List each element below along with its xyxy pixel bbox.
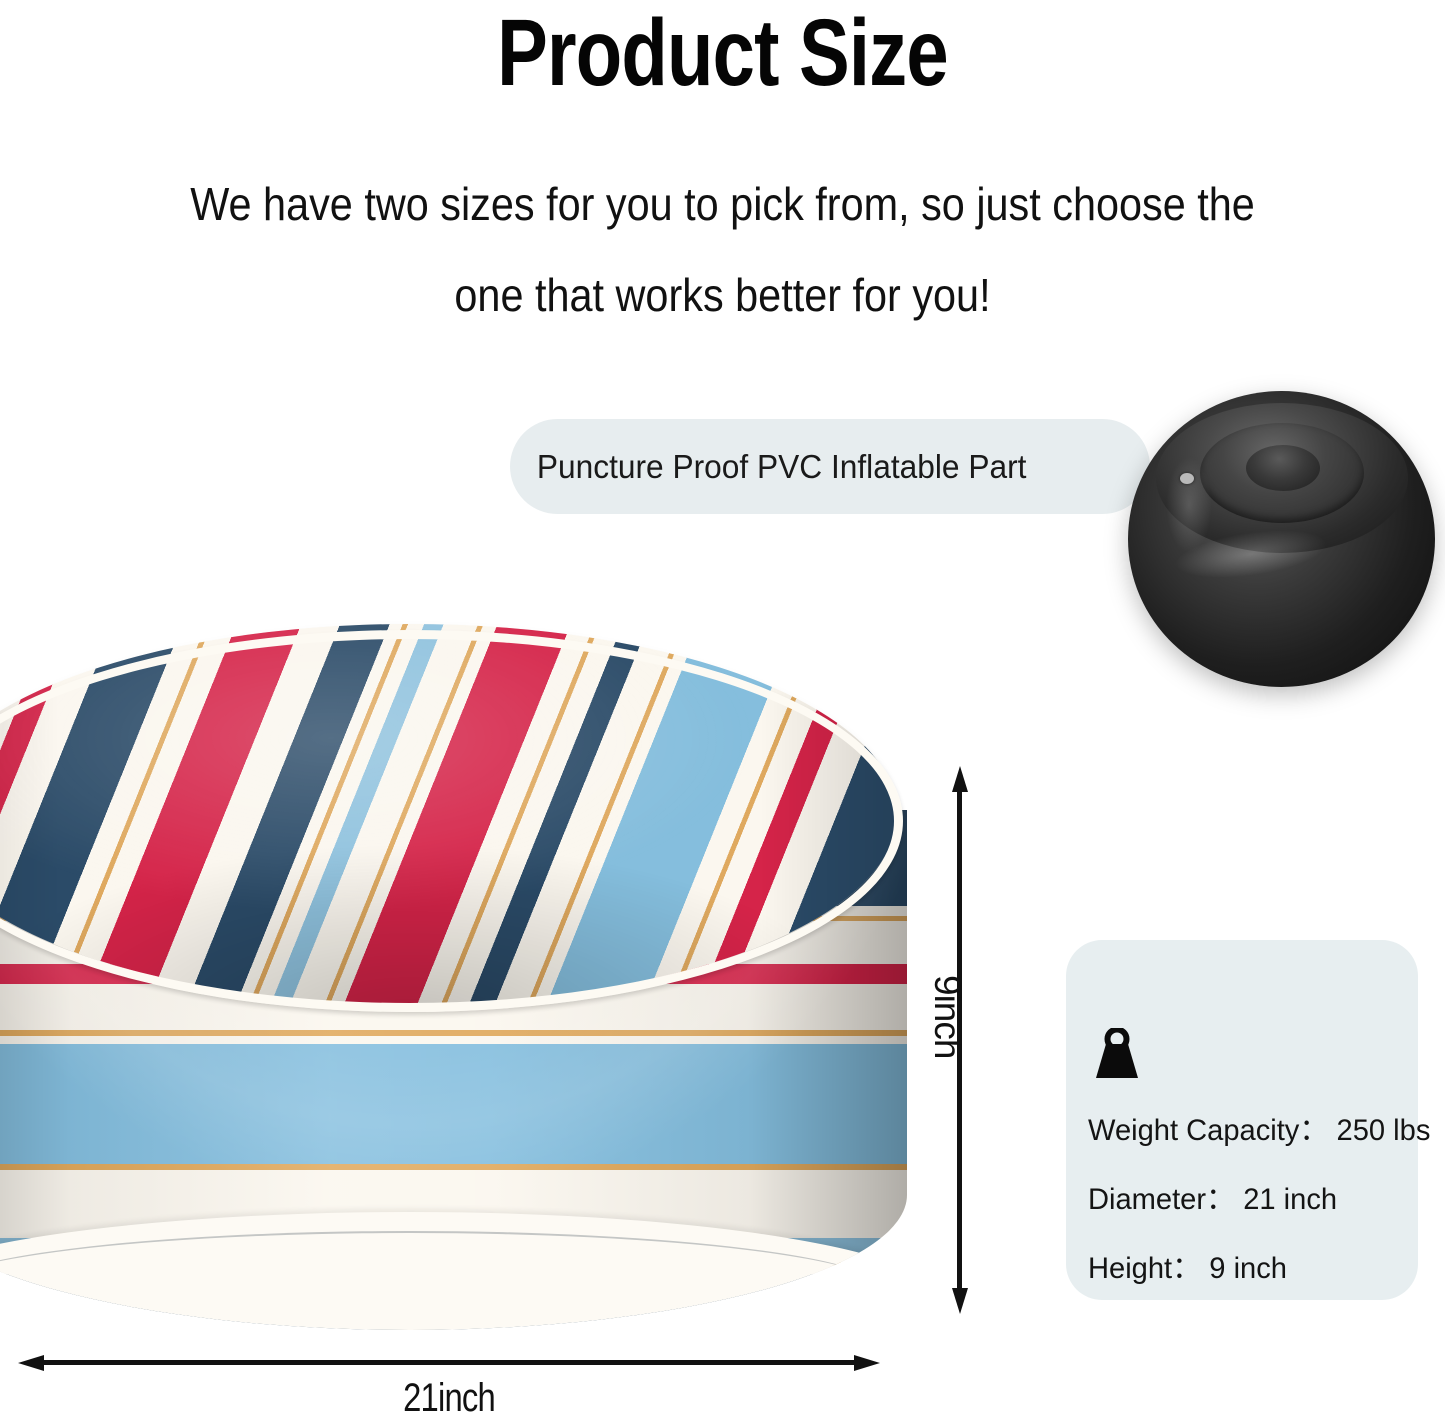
specifications-list: Weight Capacity： 250 lbs Diameter： 21 in…	[1088, 1116, 1404, 1284]
specifications-card: Weight Capacity： 250 lbs Diameter： 21 in…	[1066, 940, 1418, 1300]
width-dimension-label: 21inch	[81, 1376, 817, 1419]
arrow-down-icon	[952, 1288, 968, 1314]
spec-diameter: Diameter： 21 inch	[1088, 1185, 1395, 1215]
width-dimension-arrow	[18, 1355, 880, 1369]
dimension-line	[32, 1360, 866, 1365]
product-size-infographic: Product Size We have two sizes for you t…	[0, 0, 1445, 1419]
bladder-center-ring	[1246, 445, 1320, 491]
arrow-right-icon	[854, 1355, 880, 1371]
puncture-proof-callout: Puncture Proof PVC Inflatable Part	[510, 419, 1150, 514]
spec-weight-capacity: Weight Capacity： 250 lbs	[1088, 1116, 1395, 1146]
ottoman-top-surface	[0, 624, 897, 1004]
striped-inflatable-ottoman	[0, 624, 907, 1330]
height-dimension-label: 9inch	[926, 975, 968, 1058]
subtitle-line-2: one that works better for you!	[72, 272, 1373, 318]
bladder-side-highlight	[1166, 457, 1212, 553]
callout-label: Puncture Proof PVC Inflatable Part	[510, 448, 1026, 486]
subtitle-line-1: We have two sizes for you to pick from, …	[72, 181, 1373, 227]
page-title: Product Size	[145, 4, 1301, 104]
black-pvc-inflatable-insert	[1118, 365, 1445, 695]
air-valve-icon	[1180, 473, 1194, 484]
weight-icon	[1090, 1028, 1144, 1080]
spec-height: Height： 9 inch	[1088, 1254, 1395, 1284]
